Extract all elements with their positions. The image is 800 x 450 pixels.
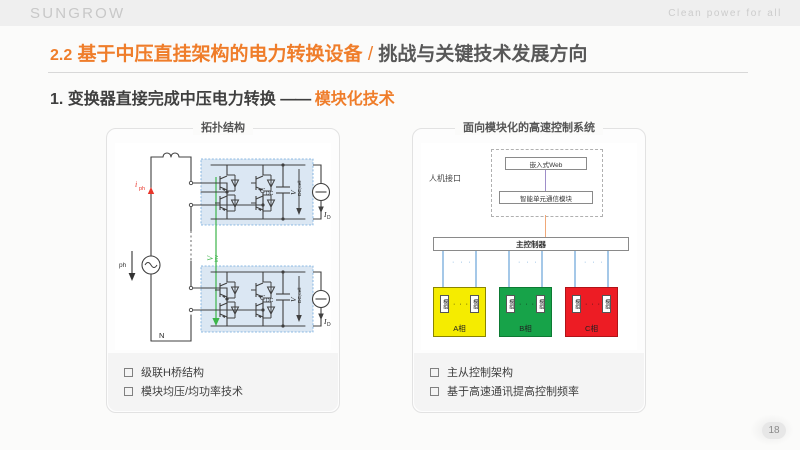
module-cell: 模组: [506, 295, 515, 313]
web-to-comm-link: [545, 170, 546, 191]
topology-panel: 拓扑结构: [106, 128, 340, 413]
subtitle-index: 1.: [50, 91, 63, 108]
topology-panel-title: 拓扑结构: [193, 119, 253, 135]
svg-text:inv: inv: [214, 255, 220, 262]
module-cell: 模组: [572, 295, 581, 313]
bullet-item: 级联H桥结构: [124, 364, 338, 380]
bullet-label: 模块均压/均功率技术: [141, 383, 243, 399]
fanout-dots: · · ·: [518, 259, 539, 266]
bullet-label: 基于高速通讯提高控制频率: [447, 383, 579, 399]
sungrow-logo: SUNGROW: [30, 5, 125, 22]
bullet-item: 模块均压/均功率技术: [124, 383, 338, 399]
fanout-dots: · · ·: [452, 259, 473, 266]
svg-text:DC,cell: DC,cell: [297, 181, 303, 196]
label-ph: ph: [119, 262, 127, 269]
control-system-panel: 面向模块化的高速控制系统 人机接口 嵌入式Web 智能单元通信模块 主控制器: [412, 128, 646, 413]
square-bullet-icon: [430, 368, 439, 377]
svg-text:DC: DC: [327, 215, 331, 221]
module-cell: 模组: [440, 295, 449, 313]
bullet-label: 主从控制架构: [447, 364, 513, 380]
module-cell: 模组: [602, 295, 611, 313]
fanout-dots: · · ·: [584, 259, 605, 266]
control-system-bullets: 主从控制架构 基于高速通讯提高控制频率: [414, 353, 644, 411]
svg-text:DC: DC: [266, 298, 274, 304]
svg-text:DC: DC: [266, 191, 274, 197]
bullet-item: 基于高速通讯提高控制频率: [430, 383, 644, 399]
hmi-label: 人机接口: [429, 173, 461, 184]
topology-diagram: ph i ph V inv N: [115, 143, 331, 350]
control-system-panel-title: 面向模块化的高速控制系统: [455, 119, 603, 135]
subtitle-text: 变换器直接完成中压电力转换: [68, 91, 276, 108]
title-separator: /: [368, 44, 373, 65]
slide-title: 2.2 基于中压直挂架构的电力转换设备 / 挑战与关键技术发展方向: [50, 39, 587, 66]
topology-bullets: 级联H桥结构 模块均压/均功率技术: [108, 353, 338, 411]
phase-box-c: 模组 · · · 模组 C相: [565, 287, 618, 337]
comm-to-controller-link: [545, 215, 546, 237]
title-subtopic: 挑战与关键技术发展方向: [378, 44, 587, 65]
module-dots: · · ·: [451, 301, 471, 308]
svg-text:DC,cell: DC,cell: [297, 288, 303, 303]
phase-box-b: 模组 · · · 模组 B相: [499, 287, 552, 337]
module-cell: 模组: [470, 295, 479, 313]
bullet-label: 级联H桥结构: [141, 364, 204, 380]
svg-text:DC: DC: [327, 322, 331, 328]
main-controller-box: 主控制器: [433, 237, 629, 251]
phase-label-a: A相: [434, 323, 485, 334]
subtitle-accent: 模块化技术: [315, 91, 395, 108]
subtitle-dash: ——: [280, 91, 310, 108]
phase-label-c: C相: [566, 323, 617, 334]
square-bullet-icon: [124, 387, 133, 396]
label-neutral: N: [159, 331, 164, 340]
label-i-ph: i: [135, 180, 137, 189]
embedded-web-box: 嵌入式Web: [505, 157, 587, 170]
control-system-diagram: 人机接口 嵌入式Web 智能单元通信模块 主控制器 · · · · · · · …: [421, 143, 637, 350]
title-number: 2.2: [50, 47, 72, 64]
svg-text:ph: ph: [139, 186, 145, 192]
smart-unit-comm-box: 智能单元通信模块: [499, 191, 593, 204]
bullet-item: 主从控制架构: [430, 364, 644, 380]
section-subtitle: 1. 变换器直接完成中压电力转换 —— 模块化技术: [50, 85, 395, 109]
module-dots: · · ·: [583, 301, 603, 308]
phase-box-a: 模组 · · · 模组 A相: [433, 287, 486, 337]
brand-tagline: Clean power for all: [668, 8, 782, 19]
title-divider: [48, 72, 748, 73]
phase-label-b: B相: [500, 323, 551, 334]
square-bullet-icon: [124, 368, 133, 377]
square-bullet-icon: [430, 387, 439, 396]
module-dots: · · ·: [517, 301, 537, 308]
module-cell: 模组: [536, 295, 545, 313]
page-number: 18: [762, 422, 786, 439]
title-main: 基于中压直挂架构的电力转换设备: [78, 44, 363, 65]
topology-svg: ph i ph V inv N: [115, 143, 331, 350]
slide-canvas: SUNGROW Clean power for all 2.2 基于中压直挂架构…: [0, 0, 800, 450]
